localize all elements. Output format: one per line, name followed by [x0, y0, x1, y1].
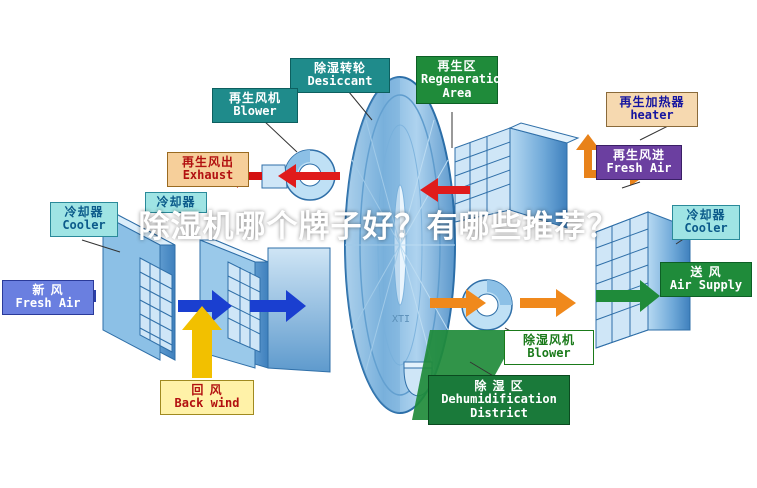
label-air-supply-en: Air Supply: [665, 279, 747, 292]
watermark-title: 除湿机哪个牌子好？有哪些推荐？: [0, 208, 757, 248]
label-back-wind-en: Back wind: [165, 397, 249, 410]
label-desiccant-wheel-cn: 除湿转轮: [295, 62, 385, 75]
label-regeneration-blower-en: Blower: [217, 105, 293, 118]
label-fresh-air-inlet-en: Fresh Air: [7, 297, 89, 310]
label-regeneration-blower: 再生风机 Blower: [212, 88, 298, 123]
label-dehumidification-blower-cn: 除湿风机: [509, 334, 589, 347]
label-regeneration-exhaust-cn: 再生风出: [172, 156, 244, 169]
label-regeneration-fresh-air-cn: 再生风进: [601, 149, 677, 162]
label-regeneration-area: 再生区 Regeneration Area: [416, 56, 498, 104]
label-back-wind: 回 风 Back wind: [160, 380, 254, 415]
label-regeneration-blower-cn: 再生风机: [217, 92, 293, 105]
label-regeneration-heater: 再生加热器 heater: [606, 92, 698, 127]
label-dehumidification-district: 除 湿 区 Dehumidification District: [428, 375, 570, 425]
label-desiccant-wheel: 除湿转轮 Desiccant: [290, 58, 390, 93]
label-regeneration-exhaust-en: Exhaust: [172, 169, 244, 182]
label-regeneration-heater-cn: 再生加热器: [611, 96, 693, 109]
label-dehumidification-blower-en: Blower: [509, 347, 589, 360]
label-dehumidification-district-en: Dehumidification District: [433, 393, 565, 420]
label-fresh-air-inlet-cn: 新 风: [7, 284, 89, 297]
label-air-supply: 送 风 Air Supply: [660, 262, 752, 297]
svg-text:XTI: XTI: [392, 314, 410, 325]
label-air-supply-cn: 送 风: [665, 266, 747, 279]
label-regeneration-fresh-air: 再生风进 Fresh Air: [596, 145, 682, 180]
label-regeneration-heater-en: heater: [611, 109, 693, 122]
label-regeneration-exhaust: 再生风出 Exhaust: [167, 152, 249, 187]
label-desiccant-wheel-en: Desiccant: [295, 75, 385, 88]
diagram-canvas: XTI: [0, 0, 757, 488]
label-fresh-air-inlet: 新 风 Fresh Air: [2, 280, 94, 315]
label-dehumidification-blower: 除湿风机 Blower: [504, 330, 594, 365]
label-back-wind-cn: 回 风: [165, 384, 249, 397]
label-regeneration-area-en: Regeneration Area: [421, 73, 493, 100]
label-dehumidification-district-cn: 除 湿 区: [433, 380, 565, 393]
label-regeneration-area-cn: 再生区: [421, 60, 493, 73]
label-regeneration-fresh-air-en: Fresh Air: [601, 162, 677, 175]
